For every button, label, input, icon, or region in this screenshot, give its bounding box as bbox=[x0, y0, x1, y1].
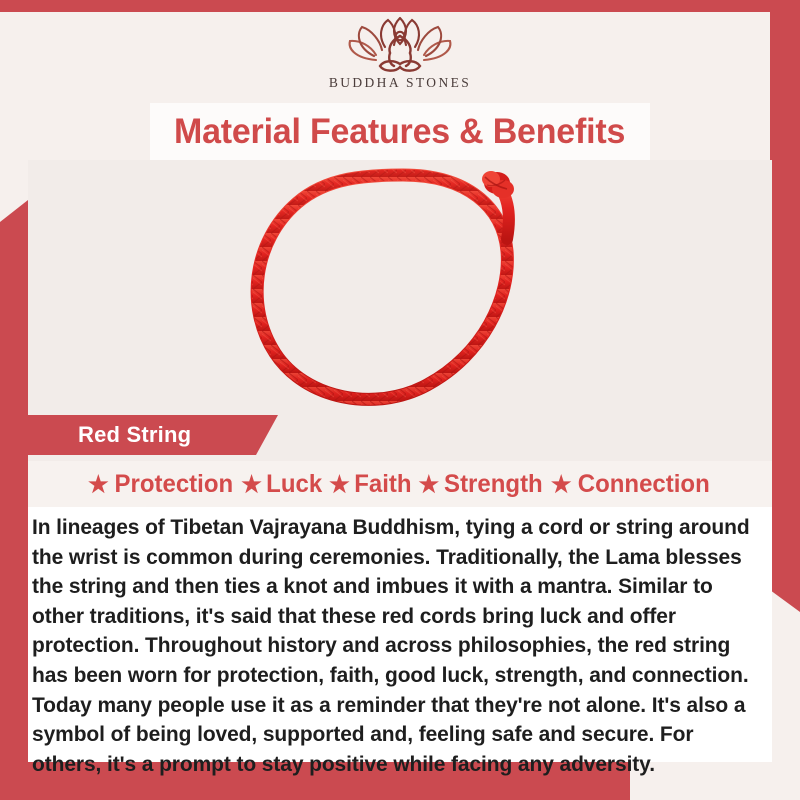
feature-label: Connection bbox=[577, 470, 709, 499]
feature-item-faith: ★ Faith bbox=[329, 470, 412, 499]
star-icon: ★ bbox=[241, 473, 262, 496]
infographic-card: BUDDHA STONES Material Features & Benefi… bbox=[0, 0, 800, 800]
feature-item-luck: ★ Luck bbox=[241, 470, 323, 499]
feature-label: Luck bbox=[266, 470, 322, 499]
section-banner-row: Red String bbox=[28, 415, 772, 461]
top-red-band bbox=[0, 0, 800, 12]
description-text: In lineages of Tibetan Vajrayana Buddhis… bbox=[32, 513, 755, 779]
red-string-bracelet-image bbox=[235, 163, 565, 413]
feature-label: Protection bbox=[114, 470, 233, 499]
brand-name: BUDDHA STONES bbox=[329, 75, 471, 91]
star-icon: ★ bbox=[329, 473, 350, 496]
bracelet-braid-texture bbox=[257, 175, 507, 399]
product-image-area bbox=[28, 160, 772, 415]
left-red-accent-bar bbox=[0, 200, 28, 762]
star-icon: ★ bbox=[88, 473, 109, 496]
feature-item-strength: ★ Strength bbox=[419, 470, 545, 499]
feature-item-connection: ★ Connection bbox=[551, 470, 712, 499]
star-icon: ★ bbox=[551, 473, 572, 496]
material-name-banner: Red String bbox=[28, 415, 278, 455]
page-title: Material Features & Benefits bbox=[174, 112, 625, 152]
feature-label: Faith bbox=[354, 470, 411, 499]
feature-item-protection: ★ Protection bbox=[88, 470, 235, 499]
material-name-label: Red String bbox=[78, 422, 191, 448]
star-icon: ★ bbox=[419, 473, 440, 496]
feature-list: ★ Protection ★ Luck ★ Faith ★ Strength ★… bbox=[28, 461, 772, 507]
brand-header: BUDDHA STONES bbox=[0, 12, 800, 104]
description-panel: In lineages of Tibetan Vajrayana Buddhis… bbox=[28, 507, 772, 762]
lotus-meditation-icon bbox=[340, 14, 460, 74]
title-banner: Material Features & Benefits bbox=[150, 103, 650, 160]
bracelet-sliding-knot bbox=[482, 171, 514, 198]
feature-label: Strength bbox=[444, 470, 543, 499]
